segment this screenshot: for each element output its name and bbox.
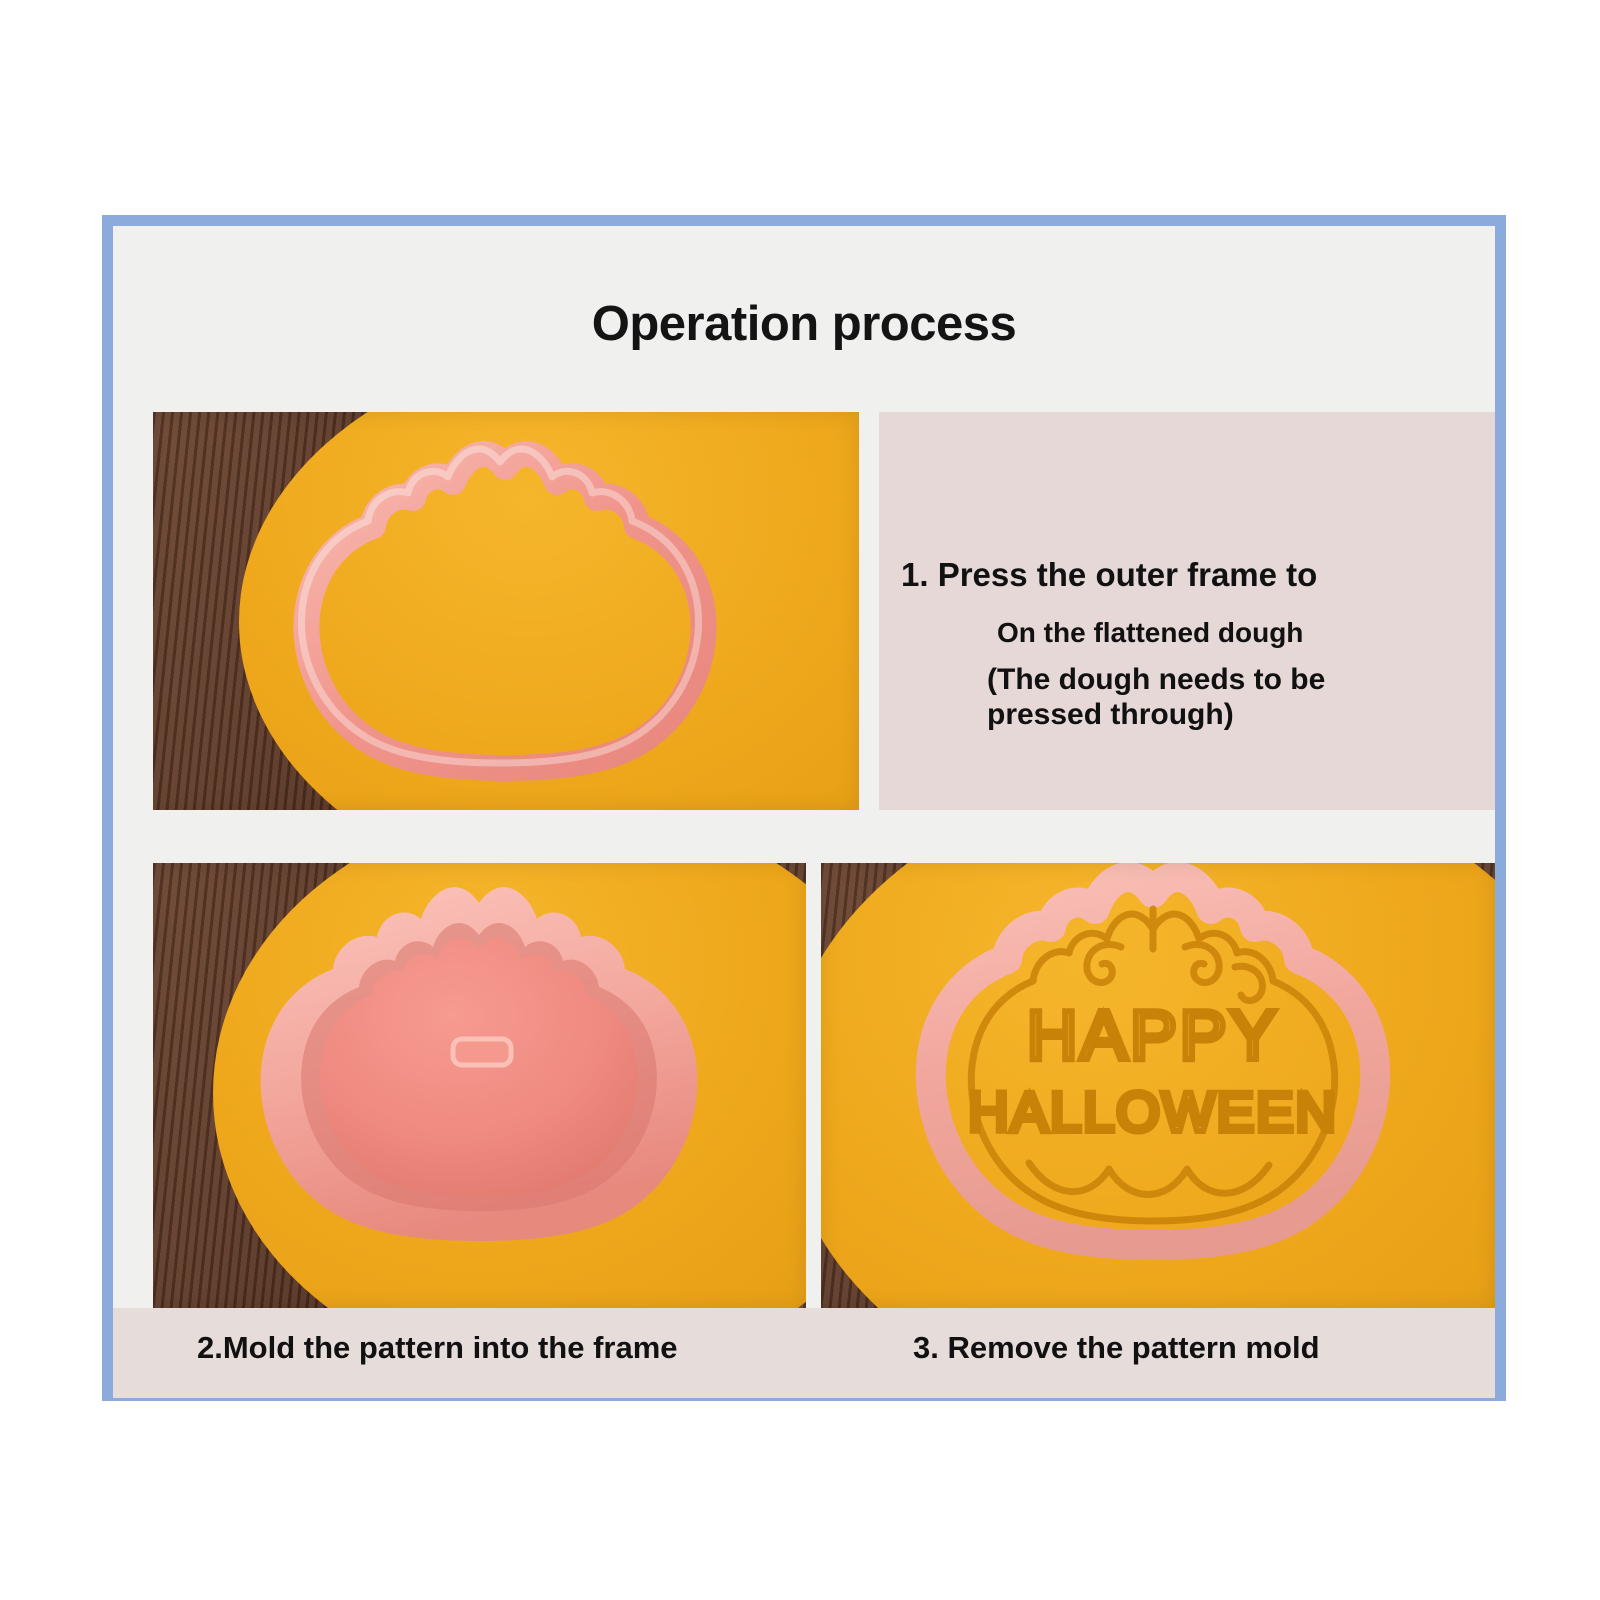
- photo-step-2: [153, 863, 806, 1308]
- plunger-handle-tab: [453, 1039, 511, 1065]
- caption-step-2: 2.Mold the pattern into the frame: [197, 1330, 678, 1366]
- stamp-text-halloween: HALLOWEEN: [968, 1080, 1338, 1143]
- caption-step-3: 3. Remove the pattern mold: [913, 1330, 1320, 1366]
- step-1-heading: 1. Press the outer frame to: [901, 556, 1317, 594]
- photo-step-3: HAPPY HALLOWEEN: [821, 863, 1495, 1308]
- step-1-instruction-panel: 1. Press the outer frame to On the flatt…: [879, 412, 1495, 810]
- page-root: Operation process 1. Press the o: [0, 0, 1600, 1600]
- page-title: Operation process: [113, 296, 1495, 352]
- stamp-text-happy: HAPPY: [1027, 996, 1279, 1074]
- step-1-note: (The dough needs to be pressed through): [987, 662, 1325, 732]
- photo-step-1: [153, 412, 859, 810]
- stamped-pumpkin-cookie-icon: HAPPY HALLOWEEN: [821, 863, 1495, 1308]
- operation-process-card: Operation process 1. Press the o: [102, 215, 1506, 1401]
- pumpkin-cutter-frame-icon: [153, 412, 859, 810]
- step-1-subline: On the flattened dough: [997, 617, 1303, 649]
- caption-strip: 2.Mold the pattern into the frame 3. Rem…: [113, 1308, 1495, 1398]
- pattern-mold-in-frame-icon: [153, 863, 806, 1308]
